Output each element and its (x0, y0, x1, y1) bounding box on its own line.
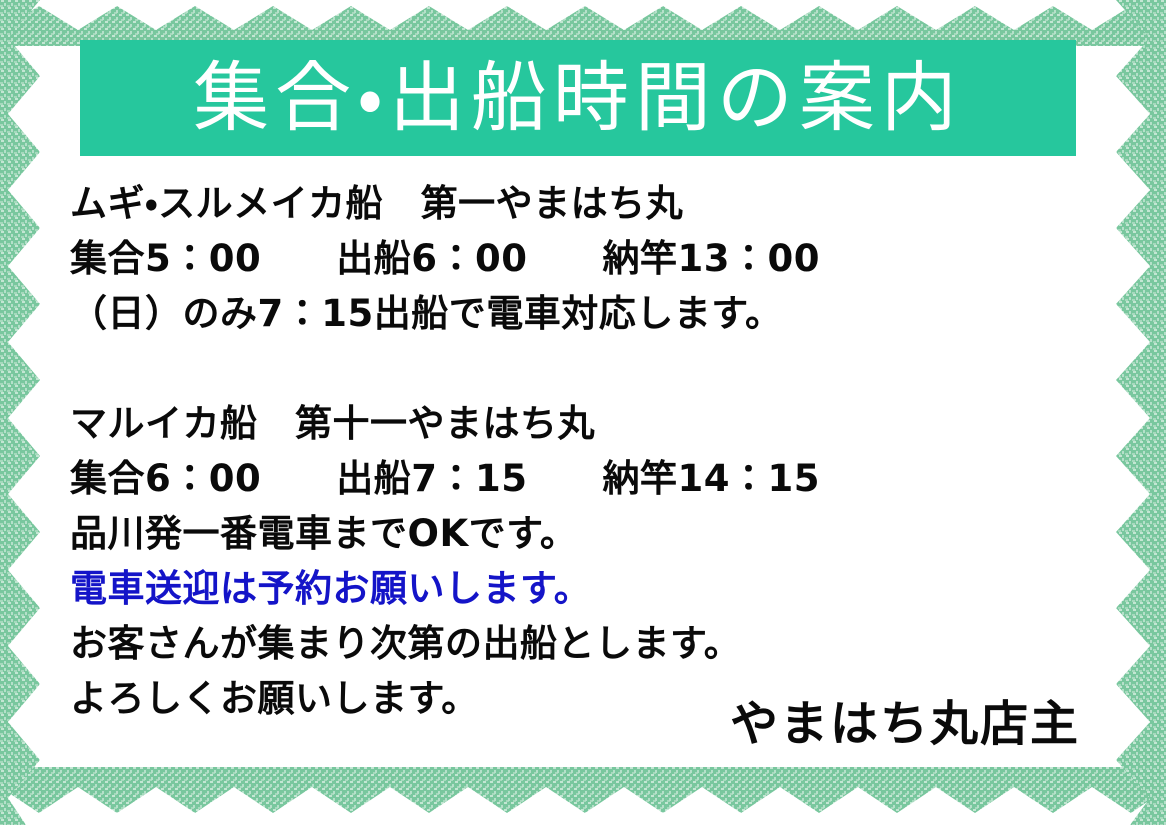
zigzag-border-bottom-decoration (0, 767, 1166, 825)
signature-text: やまはち丸店主 (730, 700, 1080, 748)
notice-line: ムギ・スルメイカ船 第一やまはち丸 (70, 176, 1080, 231)
poster-notice: 集合・出船時間の案内 ムギ・スルメイカ船 第一やまはち丸 集合5：00 出船6：… (0, 0, 1166, 825)
notice-line: お客さんが集まり次第の出船とします。 (70, 616, 1080, 671)
page-title: 集合・出船時間の案内 (193, 60, 963, 136)
title-banner: 集合・出船時間の案内 (80, 40, 1076, 156)
notice-line: マルイカ船 第十一やまはち丸 (70, 396, 1080, 451)
zigzag-border-right-decoration (1090, 0, 1166, 825)
notice-line-times: 集合5：00 出船6：00 納竿13：00 (70, 231, 1080, 286)
notice-line-highlight: 電車送迎は予約お願いします。 (70, 561, 1080, 616)
notice-line-spacer (70, 341, 1080, 396)
notice-line-times: 集合6：00 出船7：15 納竿14：15 (70, 451, 1080, 506)
zigzag-border-left-decoration (0, 0, 62, 825)
notice-line: 品川発一番電車までOKです。 (70, 506, 1080, 561)
notice-body: ムギ・スルメイカ船 第一やまはち丸 集合5：00 出船6：00 納竿13：00 … (70, 176, 1080, 726)
notice-line: （日）のみ7：15出船で電車対応します。 (70, 286, 1080, 341)
